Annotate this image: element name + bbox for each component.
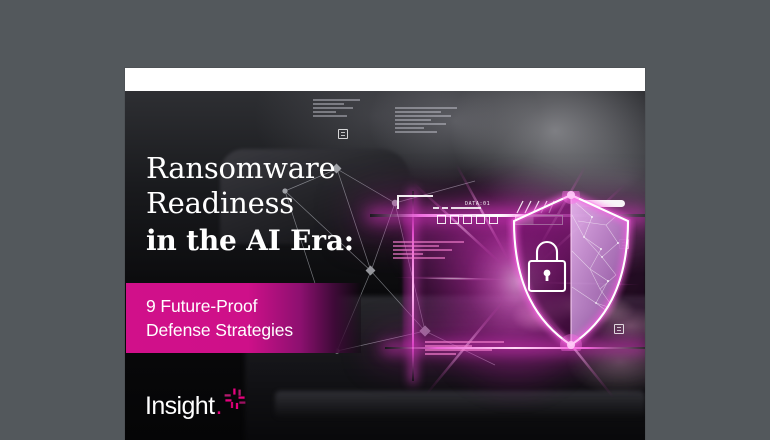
card-top-white-strip — [125, 68, 645, 91]
subtitle-band: 9 Future-Proof Defense Strategies — [126, 283, 361, 353]
code-text-block — [395, 107, 457, 135]
hud-square — [489, 215, 498, 224]
shield-graphic — [506, 191, 636, 351]
ebook-cover-card[interactable]: DATA:01 — [125, 68, 645, 440]
hud-square — [463, 215, 472, 224]
subtitle-line-1: 9 Future-Proof — [146, 294, 293, 318]
cover-title: Ransomware Readiness in the AI Era: — [146, 151, 406, 259]
subtitle-line-2: Defense Strategies — [146, 318, 293, 342]
screenshot-viewport: DATA:01 — [0, 0, 770, 440]
subtitle-text: 9 Future-Proof Defense Strategies — [146, 294, 293, 342]
hud-label: DATA:01 — [465, 201, 490, 207]
title-line-3: in the AI Era: — [146, 223, 406, 259]
hud-dash — [451, 207, 481, 209]
hud-square-row — [437, 215, 498, 224]
title-line-1: Ransomware — [146, 151, 406, 186]
cover-hero-image: DATA:01 — [125, 91, 645, 440]
logo-dot: . — [215, 394, 222, 419]
chip-icon — [338, 129, 348, 139]
title-line-2: Readiness — [146, 186, 406, 221]
hud-square — [437, 215, 446, 224]
hud-square — [476, 215, 485, 224]
code-text-block — [425, 341, 511, 357]
hud-square — [450, 215, 459, 224]
hud-dash — [433, 207, 439, 209]
code-text-block — [313, 99, 365, 119]
shield-lock-icon — [506, 191, 636, 351]
insight-pinwheel-mark-icon — [223, 387, 247, 411]
insight-logo[interactable]: Insight . — [145, 387, 247, 419]
logo-wordmark: Insight — [145, 394, 214, 419]
hud-dash — [442, 207, 448, 209]
